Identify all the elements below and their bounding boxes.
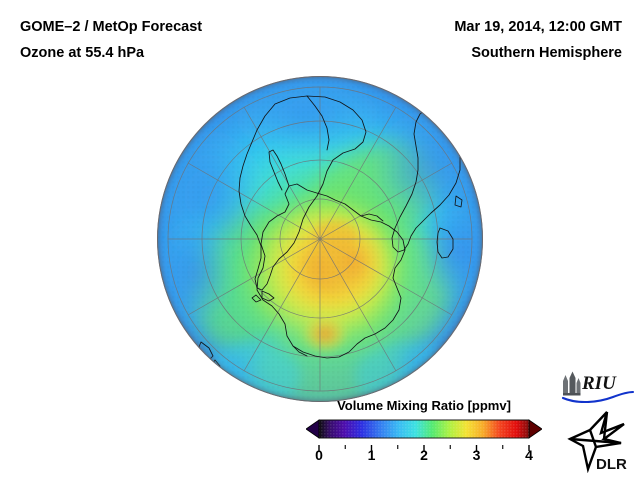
dlr-logo: DLR	[566, 409, 632, 473]
colorbar-tick-label: 0	[315, 447, 323, 463]
colorbar-tick-labels: 01234	[306, 447, 542, 467]
page-title: GOME–2 / MetOp Forecast	[20, 19, 202, 35]
colorbar-tick-label: 4	[525, 447, 533, 463]
riu-wordmark: RIU	[581, 373, 617, 394]
hemisphere-label: Southern Hemisphere	[471, 45, 622, 61]
colorbar-tick-label: 3	[473, 447, 481, 463]
colorbar-title: Volume Mixing Ratio [ppmv]	[306, 398, 542, 413]
colorbar: Volume Mixing Ratio [ppmv]	[306, 398, 542, 476]
riu-spires-icon	[563, 372, 581, 396]
dlr-wordmark: DLR	[596, 456, 627, 473]
page-subtitle: Ozone at 55.4 hPa	[20, 45, 144, 61]
colorbar-gradient	[306, 418, 542, 440]
figure-canvas: GOME–2 / MetOp Forecast Ozone at 55.4 hP…	[0, 0, 640, 480]
ozone-field-layer	[157, 76, 483, 402]
globe-map	[157, 76, 483, 402]
riu-logo: RIU	[561, 371, 635, 403]
globe-disc	[157, 76, 483, 402]
timestamp-label: Mar 19, 2014, 12:00 GMT	[454, 19, 622, 35]
colorbar-tick-label: 2	[420, 447, 428, 463]
colorbar-tick-label: 1	[368, 447, 376, 463]
